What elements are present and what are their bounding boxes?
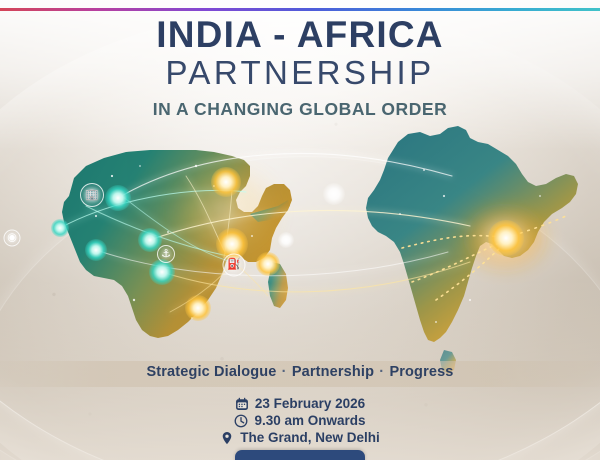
register-button[interactable] [235, 450, 365, 460]
factory-icon: ⛽ [223, 254, 246, 277]
tagline-separator: · [378, 364, 385, 380]
event-time-row: 9.30 am Onwards [234, 413, 365, 428]
title-line-2: PARTNERSHIP [0, 55, 600, 92]
tagline-part-2: Partnership [292, 364, 374, 380]
clock-icon [234, 414, 248, 428]
poster-canvas: 🏢 ⛽ ⚓ ◉ INDIA - AFRICA PARTNERSHIP IN A … [0, 0, 600, 460]
title-line-1: INDIA - AFRICA [0, 16, 600, 54]
event-date-row: 23 February 2026 [235, 396, 365, 411]
city-skyline-icon: 🏢 [80, 183, 104, 207]
event-time-label: 9.30 am Onwards [254, 413, 365, 428]
tagline-part-3: Progress [389, 364, 453, 380]
tagline: Strategic Dialogue · Partnership · Progr… [0, 364, 600, 380]
network-globe-icon: ◉ [4, 230, 21, 247]
event-venue-label: The Grand, New Delhi [240, 430, 380, 445]
headline-block: INDIA - AFRICA PARTNERSHIP IN A CHANGING… [0, 16, 600, 119]
title-line-3: IN A CHANGING GLOBAL ORDER [0, 100, 600, 119]
location-pin-icon [220, 431, 234, 445]
calendar-icon [235, 397, 249, 411]
tagline-separator: · [281, 364, 288, 380]
event-details: 23 February 2026 9.30 am Onwards The Gra… [0, 396, 600, 445]
event-venue-row: The Grand, New Delhi [220, 430, 380, 445]
ship-icon: ⚓ [157, 245, 175, 263]
event-date-label: 23 February 2026 [255, 396, 365, 411]
tagline-part-1: Strategic Dialogue [146, 364, 276, 380]
